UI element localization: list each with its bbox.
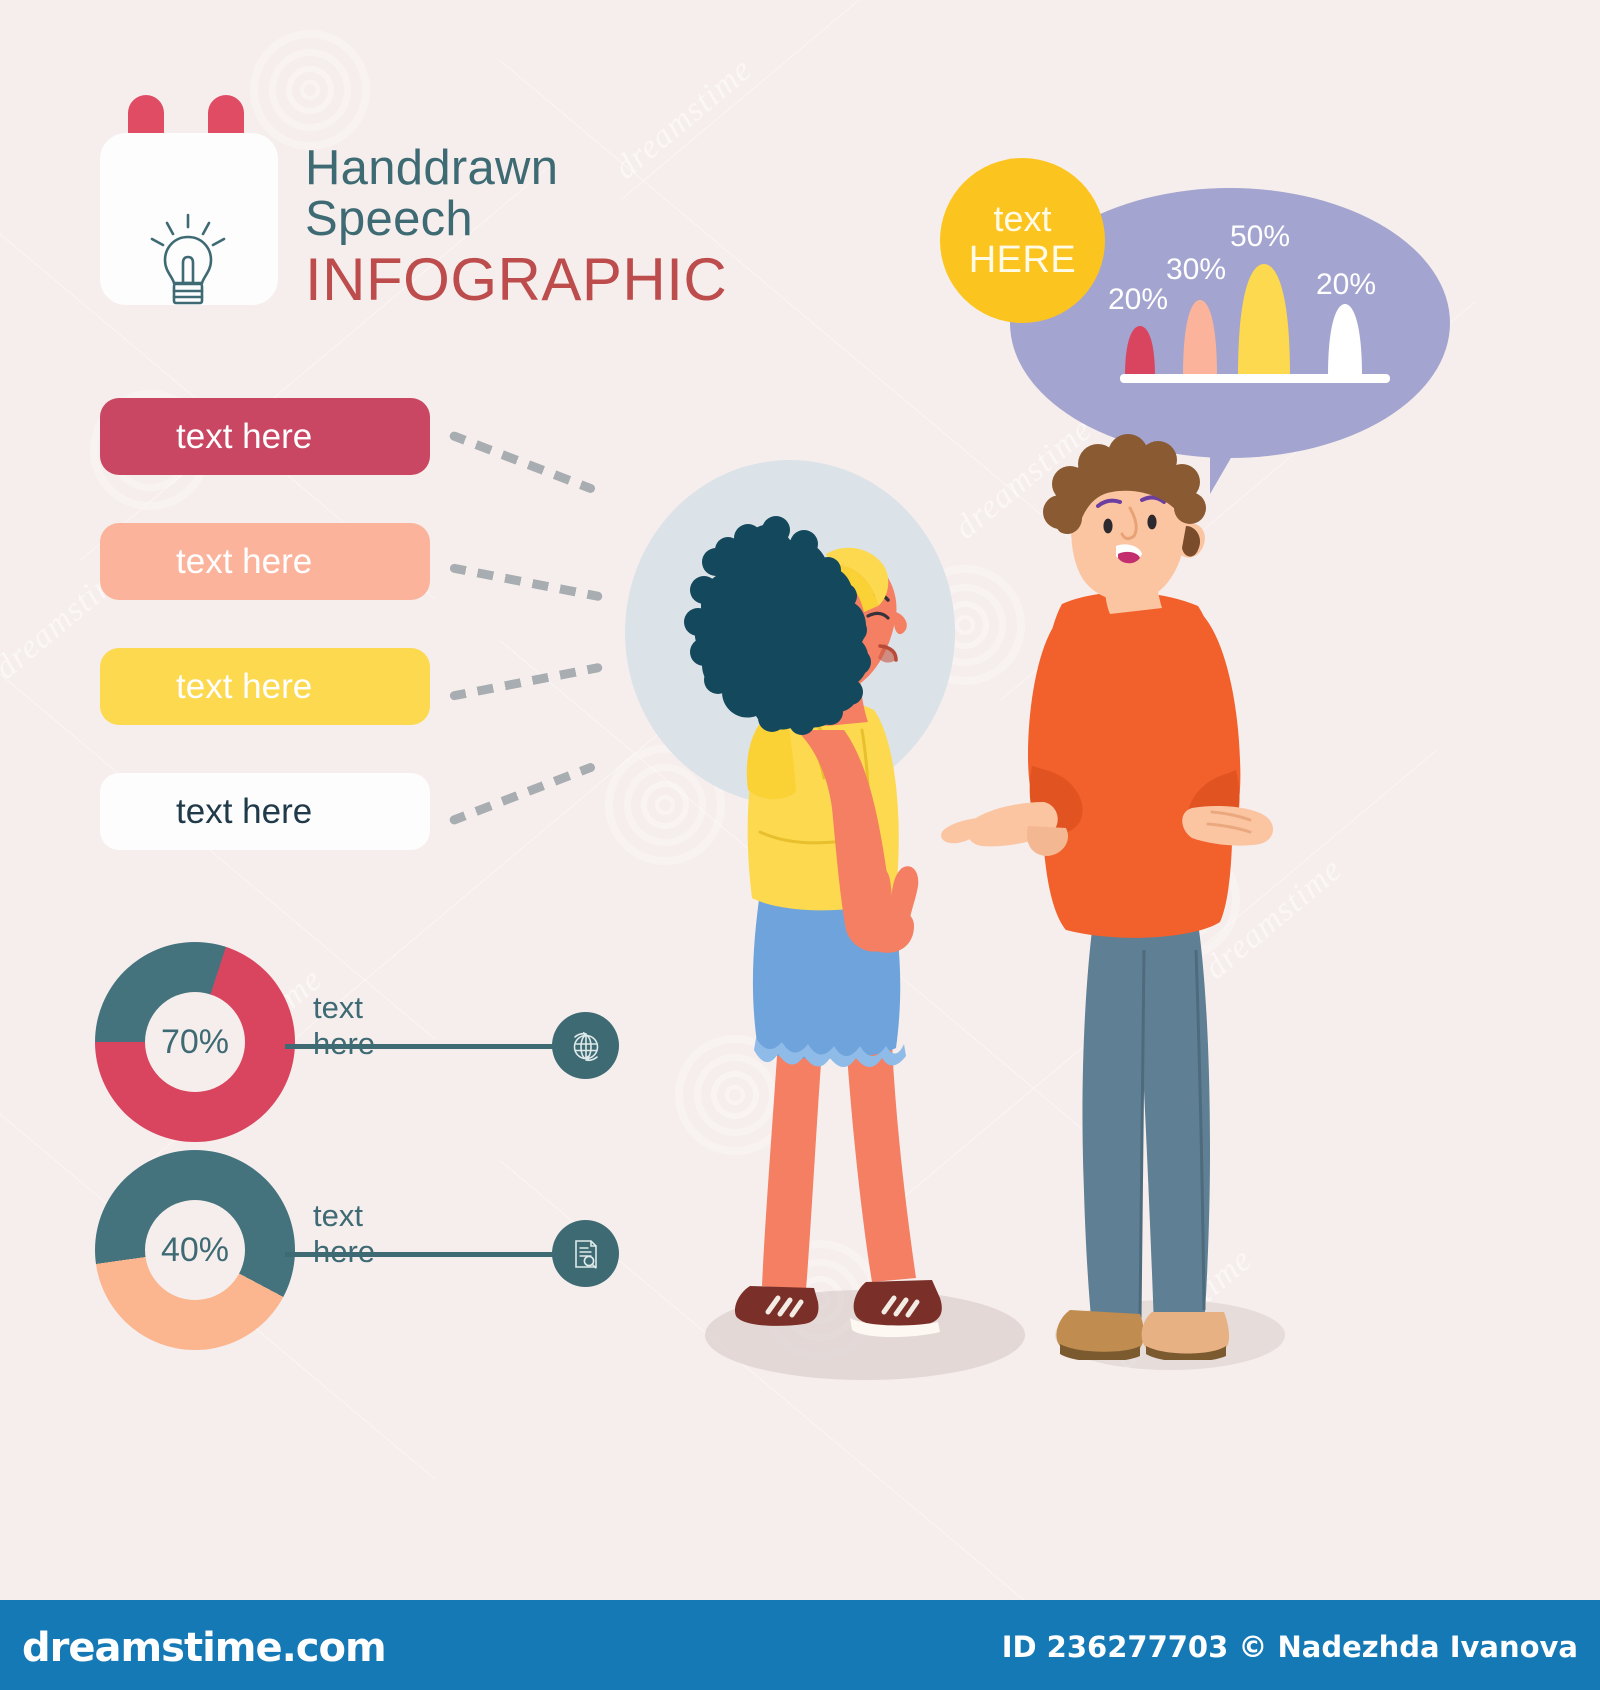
connector-line-2 bbox=[449, 563, 603, 601]
connector-line-1 bbox=[448, 430, 596, 494]
lightbulb-icon bbox=[138, 213, 238, 314]
man-character bbox=[941, 434, 1273, 1360]
bar-label-1: 20% bbox=[1108, 283, 1168, 317]
chart-baseline bbox=[1120, 374, 1390, 383]
bar-4 bbox=[1328, 304, 1362, 376]
connector-line-4 bbox=[448, 762, 596, 826]
pill-label: text here bbox=[176, 417, 312, 457]
pill-label: text here bbox=[176, 792, 312, 832]
text-here-badge[interactable]: text HERE bbox=[940, 158, 1105, 323]
pill-label: text here bbox=[176, 542, 312, 582]
pill-label: text here bbox=[176, 667, 312, 707]
bar-label-4: 20% bbox=[1316, 268, 1376, 302]
connector-line-3 bbox=[449, 663, 603, 701]
donut-value: 70% bbox=[145, 992, 245, 1092]
bar-3 bbox=[1238, 264, 1290, 376]
bar-label-2: 30% bbox=[1166, 253, 1226, 287]
badge-line-2: HERE bbox=[969, 239, 1077, 282]
logo-card bbox=[100, 133, 278, 305]
woman-character bbox=[684, 516, 942, 1337]
footer-bar: dreamstime.com ID 236277703 © Nadezhda I… bbox=[0, 1600, 1600, 1690]
pill-item-4[interactable]: text here bbox=[100, 773, 430, 850]
pill-item-2[interactable]: text here bbox=[100, 523, 430, 600]
page-title: Handdrawn Speech INFOGRAPHIC bbox=[305, 143, 727, 311]
bar-2 bbox=[1183, 300, 1217, 376]
title-line-2: INFOGRAPHIC bbox=[305, 248, 727, 311]
bar-1 bbox=[1125, 326, 1155, 376]
image-credit: ID 236277703 © Nadezhda Ivanova bbox=[1002, 1630, 1578, 1664]
dreamstime-logo-text: dreamstime.com bbox=[22, 1625, 386, 1671]
donut-label: text here bbox=[313, 990, 375, 1062]
pill-item-1[interactable]: text here bbox=[100, 398, 430, 475]
donut-value: 40% bbox=[145, 1200, 245, 1300]
infographic-canvas: dreamstime dreamstime dreamstime dreamst… bbox=[0, 0, 1600, 1600]
dreamstime-logo[interactable]: dreamstime.com bbox=[22, 1625, 386, 1671]
title-line-1: Handdrawn Speech bbox=[305, 143, 727, 246]
donut-label: text here bbox=[313, 1198, 375, 1270]
pill-item-3[interactable]: text here bbox=[100, 648, 430, 725]
bar-label-3: 50% bbox=[1230, 220, 1290, 254]
badge-line-1: text bbox=[993, 199, 1051, 239]
